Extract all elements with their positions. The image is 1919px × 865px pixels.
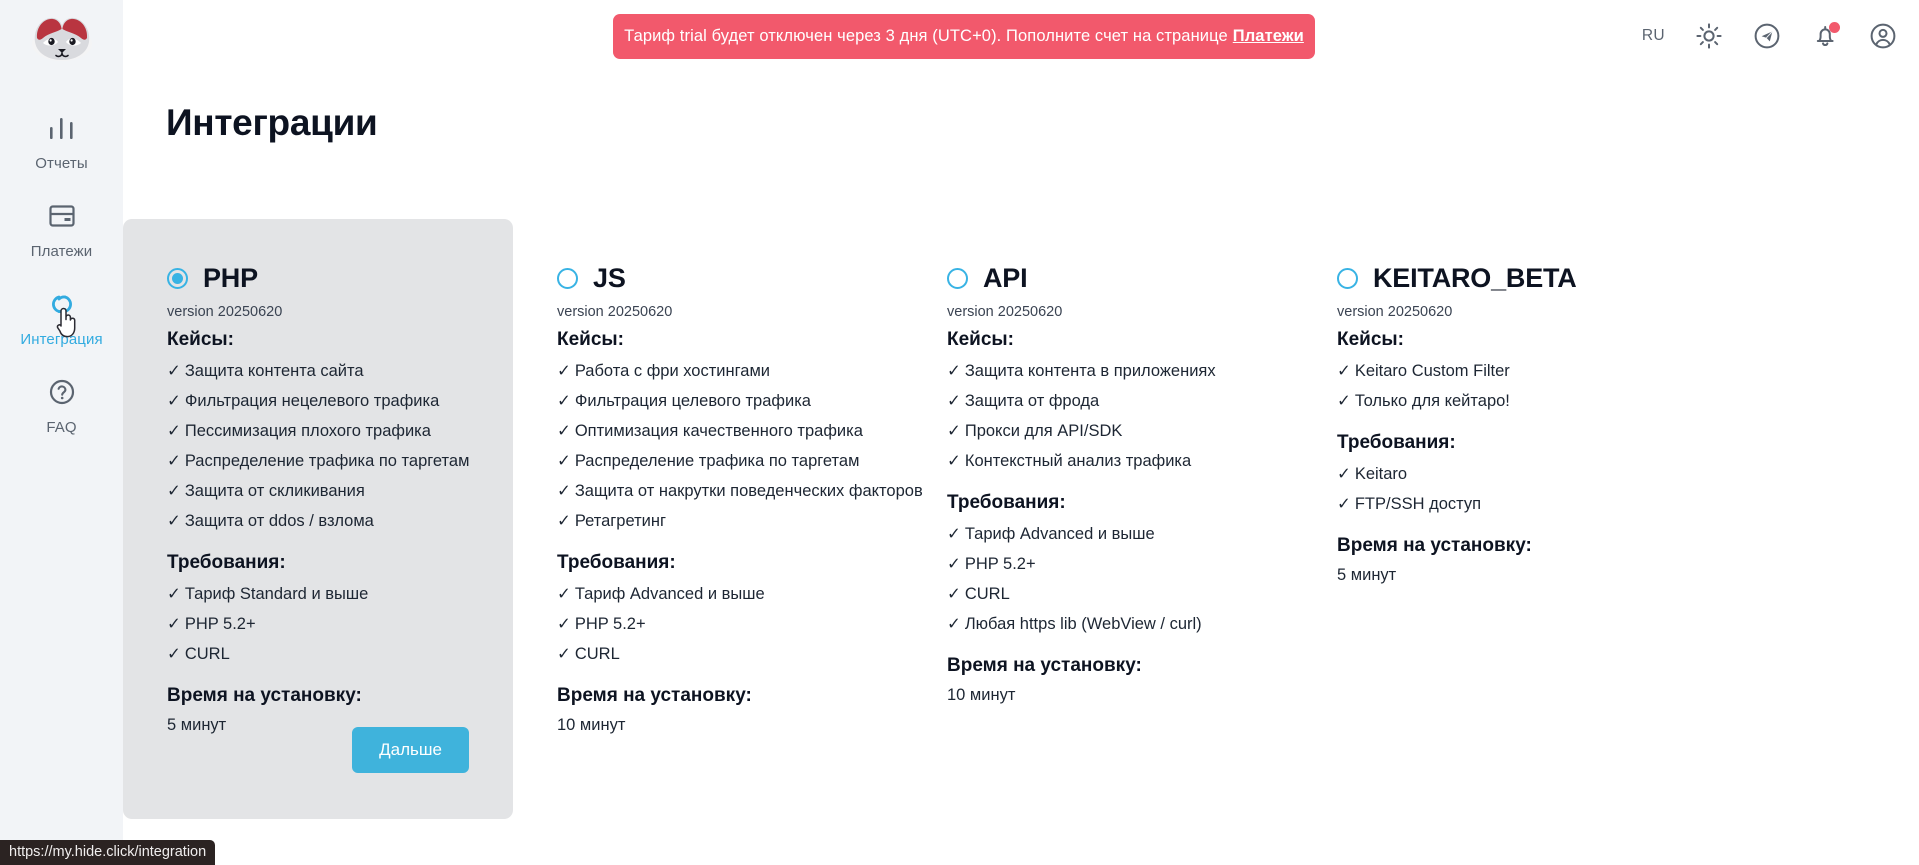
card-version: version 20250620: [1337, 304, 1639, 320]
case-item: ✓Защита от фрода: [947, 391, 1249, 411]
page-title: Интеграции: [166, 102, 1919, 144]
case-item: ✓Защита от скликивания: [167, 481, 469, 501]
status-bar-url: https://my.hide.click/integration: [0, 840, 215, 865]
check-icon: ✓: [1337, 392, 1351, 410]
requirement-item: ✓CURL: [947, 584, 1249, 604]
check-icon: ✓: [557, 392, 571, 410]
check-icon: ✓: [167, 585, 181, 603]
check-icon: ✓: [947, 585, 961, 603]
case-item: ✓Только для кейтаро!: [1337, 391, 1639, 411]
case-item: ✓Пессимизация плохого трафика: [167, 421, 469, 441]
integration-card-keitaro-beta[interactable]: KEITARO_BETA version 20250620 Кейсы: ✓Ke…: [1293, 219, 1683, 819]
case-item: ✓Распределение трафика по таргетам: [167, 451, 469, 471]
check-icon: ✓: [167, 452, 181, 470]
next-button[interactable]: Дальше: [352, 727, 469, 773]
card-header: PHP: [167, 263, 469, 294]
radio-selected-dot: [172, 273, 183, 284]
check-icon: ✓: [947, 555, 961, 573]
card-version: version 20250620: [167, 304, 469, 320]
check-icon: ✓: [167, 645, 181, 663]
requirements-heading: Требования:: [947, 492, 1249, 514]
card-header: API: [947, 263, 1249, 294]
sidebar-item-integraciya[interactable]: Интеграция: [0, 286, 123, 348]
install-time-heading: Время на установку:: [557, 685, 859, 707]
card-title: JS: [593, 263, 626, 294]
case-item: ✓Защита контента в приложениях: [947, 361, 1249, 381]
sun-icon[interactable]: [1695, 22, 1723, 50]
case-item: ✓Распределение трафика по таргетам: [557, 451, 859, 471]
alert-text: Тариф trial будет отключен через 3 дня (…: [624, 27, 1228, 46]
requirement-item: ✓Тариф Standard и выше: [167, 584, 469, 604]
install-time-value: 10 минут: [947, 686, 1249, 705]
topbar: Тариф trial будет отключен через 3 дня (…: [123, 0, 1919, 72]
cases-heading: Кейсы:: [947, 329, 1249, 351]
case-item: ✓Keitaro Custom Filter: [1337, 361, 1639, 381]
radio-button-api[interactable]: [947, 268, 968, 289]
case-item: ✓Фильтрация нецелевого трафика: [167, 391, 469, 411]
check-icon: ✓: [167, 615, 181, 633]
raccoon-logo-svg: [27, 12, 97, 64]
check-icon: ✓: [1337, 495, 1351, 513]
raccoon-logo[interactable]: [26, 10, 98, 66]
check-icon: ✓: [557, 615, 571, 633]
question-circle-icon: [45, 374, 79, 410]
case-item: ✓Защита от накрутки поведенческих фактор…: [557, 481, 859, 501]
install-time-heading: Время на установку:: [167, 685, 469, 707]
radio-button-php[interactable]: [167, 268, 188, 289]
case-item: ✓Работа с фри хостингами: [557, 361, 859, 381]
credit-card-icon: [45, 198, 79, 234]
card-title: KEITARO_BETA: [1373, 263, 1577, 294]
install-time-value: 10 минут: [557, 716, 859, 735]
requirement-item: ✓Тариф Advanced и выше: [947, 524, 1249, 544]
radio-button-js[interactable]: [557, 268, 578, 289]
bell-icon[interactable]: [1811, 22, 1839, 50]
check-icon: ✓: [947, 615, 961, 633]
card-header: JS: [557, 263, 859, 294]
sidebar-item-label: Интеграция: [20, 331, 102, 348]
trial-alert-banner[interactable]: Тариф trial будет отключен через 3 дня (…: [613, 14, 1315, 59]
requirement-item: ✓PHP 5.2+: [167, 614, 469, 634]
check-icon: ✓: [557, 512, 571, 530]
check-icon: ✓: [557, 362, 571, 380]
check-icon: ✓: [947, 452, 961, 470]
bar-chart-icon: [45, 110, 79, 146]
install-time-value: 5 минут: [1337, 566, 1639, 585]
requirements-heading: Требования:: [1337, 432, 1639, 454]
check-icon: ✓: [947, 422, 961, 440]
integration-cards: PHP version 20250620 Кейсы: ✓Защита конт…: [123, 219, 1683, 819]
cases-heading: Кейсы:: [167, 329, 469, 351]
requirement-item: ✓Keitaro: [1337, 464, 1639, 484]
check-icon: ✓: [557, 585, 571, 603]
install-time-heading: Время на установку:: [947, 655, 1249, 677]
radio-button-keitaro-beta[interactable]: [1337, 268, 1358, 289]
check-icon: ✓: [557, 452, 571, 470]
check-icon: ✓: [167, 512, 181, 530]
check-icon: ✓: [557, 482, 571, 500]
sidebar: Отчеты Платежи: [0, 0, 123, 865]
card-version: version 20250620: [557, 304, 859, 320]
cases-heading: Кейсы:: [557, 329, 859, 351]
requirement-item: ✓CURL: [557, 644, 859, 664]
language-switcher[interactable]: RU: [1642, 27, 1665, 45]
check-icon: ✓: [167, 392, 181, 410]
case-item: ✓Фильтрация целевого трафика: [557, 391, 859, 411]
sidebar-item-faq[interactable]: FAQ: [0, 374, 123, 436]
sidebar-item-label: FAQ: [46, 419, 76, 436]
requirement-item: ✓FTP/SSH доступ: [1337, 494, 1639, 514]
integration-card-api[interactable]: API version 20250620 Кейсы: ✓Защита конт…: [903, 219, 1293, 819]
card-title: PHP: [203, 263, 258, 294]
check-icon: ✓: [1337, 465, 1351, 483]
requirements-heading: Требования:: [167, 552, 469, 574]
integration-card-js[interactable]: JS version 20250620 Кейсы: ✓Работа с фри…: [513, 219, 903, 819]
case-item: ✓Защита от ddos / взлома: [167, 511, 469, 531]
case-item: ✓Прокси для API/SDK: [947, 421, 1249, 441]
requirement-item: ✓PHP 5.2+: [947, 554, 1249, 574]
alert-payments-link[interactable]: Платежи: [1233, 27, 1304, 46]
case-item: ✓Защита контента сайта: [167, 361, 469, 381]
requirement-item: ✓CURL: [167, 644, 469, 664]
requirement-item: ✓PHP 5.2+: [557, 614, 859, 634]
check-icon: ✓: [167, 482, 181, 500]
case-item: ✓Ретагретинг: [557, 511, 859, 531]
requirement-item: ✓Тариф Advanced и выше: [557, 584, 859, 604]
install-time-heading: Время на установку:: [1337, 535, 1639, 557]
check-icon: ✓: [1337, 362, 1351, 380]
sidebar-item-otchety[interactable]: Отчеты: [0, 110, 123, 172]
cases-heading: Кейсы:: [1337, 329, 1639, 351]
requirements-heading: Требования:: [557, 552, 859, 574]
user-circle-icon[interactable]: [1869, 22, 1897, 50]
check-icon: ✓: [557, 422, 571, 440]
integration-card-php[interactable]: PHP version 20250620 Кейсы: ✓Защита конт…: [123, 219, 513, 819]
check-icon: ✓: [557, 645, 571, 663]
case-item: ✓Контекстный анализ трафика: [947, 451, 1249, 471]
telegram-icon[interactable]: [1753, 22, 1781, 50]
check-icon: ✓: [947, 362, 961, 380]
check-icon: ✓: [947, 525, 961, 543]
main-content: Интеграции PHP version 20250620 Кейсы: ✓…: [123, 72, 1919, 865]
sidebar-item-label: Отчеты: [35, 155, 87, 172]
app-root: Отчеты Платежи: [0, 0, 1919, 865]
card-version: version 20250620: [947, 304, 1249, 320]
card-header: KEITARO_BETA: [1337, 263, 1639, 294]
sidebar-item-label: Платежи: [31, 243, 93, 260]
sidebar-nav: Отчеты Платежи: [0, 110, 123, 462]
sidebar-item-platezhi[interactable]: Платежи: [0, 198, 123, 260]
topbar-actions: RU: [1642, 0, 1897, 72]
check-icon: ✓: [167, 422, 181, 440]
link-chain-icon: [44, 286, 80, 322]
check-icon: ✓: [167, 362, 181, 380]
requirement-item: ✓Любая https lib (WebView / curl): [947, 614, 1249, 634]
notification-badge-dot: [1829, 22, 1840, 33]
card-title: API: [983, 263, 1027, 294]
case-item: ✓Оптимизация качественного трафика: [557, 421, 859, 441]
check-icon: ✓: [947, 392, 961, 410]
